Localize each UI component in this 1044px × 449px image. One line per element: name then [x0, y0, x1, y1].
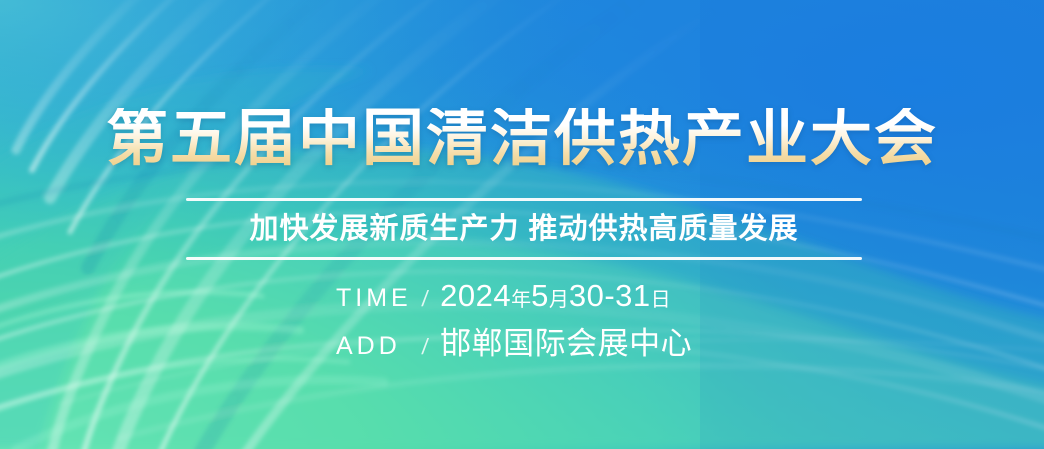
address-separator: / — [421, 334, 442, 360]
time-month-unit: 月 — [549, 289, 569, 311]
event-info-block: TIME / 2024年5月30-31日 ADD / 邯郸国际会展中心 — [0, 278, 1044, 363]
banner-content: 第五届中国清洁供热产业大会 加快发展新质生产力 推动供热高质量发展 TIME /… — [0, 0, 1044, 449]
time-days-unit: 日 — [651, 289, 671, 311]
subtitle-text: 加快发展新质生产力 推动供热高质量发展 — [186, 201, 862, 257]
time-days: 30-31 — [569, 278, 651, 313]
time-month: 5 — [531, 278, 549, 313]
address-value: 邯郸国际会展中心 — [440, 318, 692, 363]
subtitle-block: 加快发展新质生产力 推动供热高质量发展 — [186, 198, 862, 260]
time-value: 2024年5月30-31日 — [440, 278, 671, 314]
event-time-row: TIME / 2024年5月30-31日 — [0, 278, 1044, 314]
event-address-row: ADD / 邯郸国际会展中心 — [0, 318, 1044, 363]
time-separator: / — [421, 286, 442, 312]
time-year-unit: 年 — [511, 289, 531, 311]
conference-banner: 第五届中国清洁供热产业大会 加快发展新质生产力 推动供热高质量发展 TIME /… — [0, 0, 1044, 449]
page-title: 第五届中国清洁供热产业大会 — [0, 108, 1044, 170]
time-label: TIME — [336, 284, 422, 313]
address-label: ADD — [336, 332, 422, 361]
time-year: 2024 — [440, 278, 511, 313]
subtitle-rule-bottom — [186, 257, 862, 260]
